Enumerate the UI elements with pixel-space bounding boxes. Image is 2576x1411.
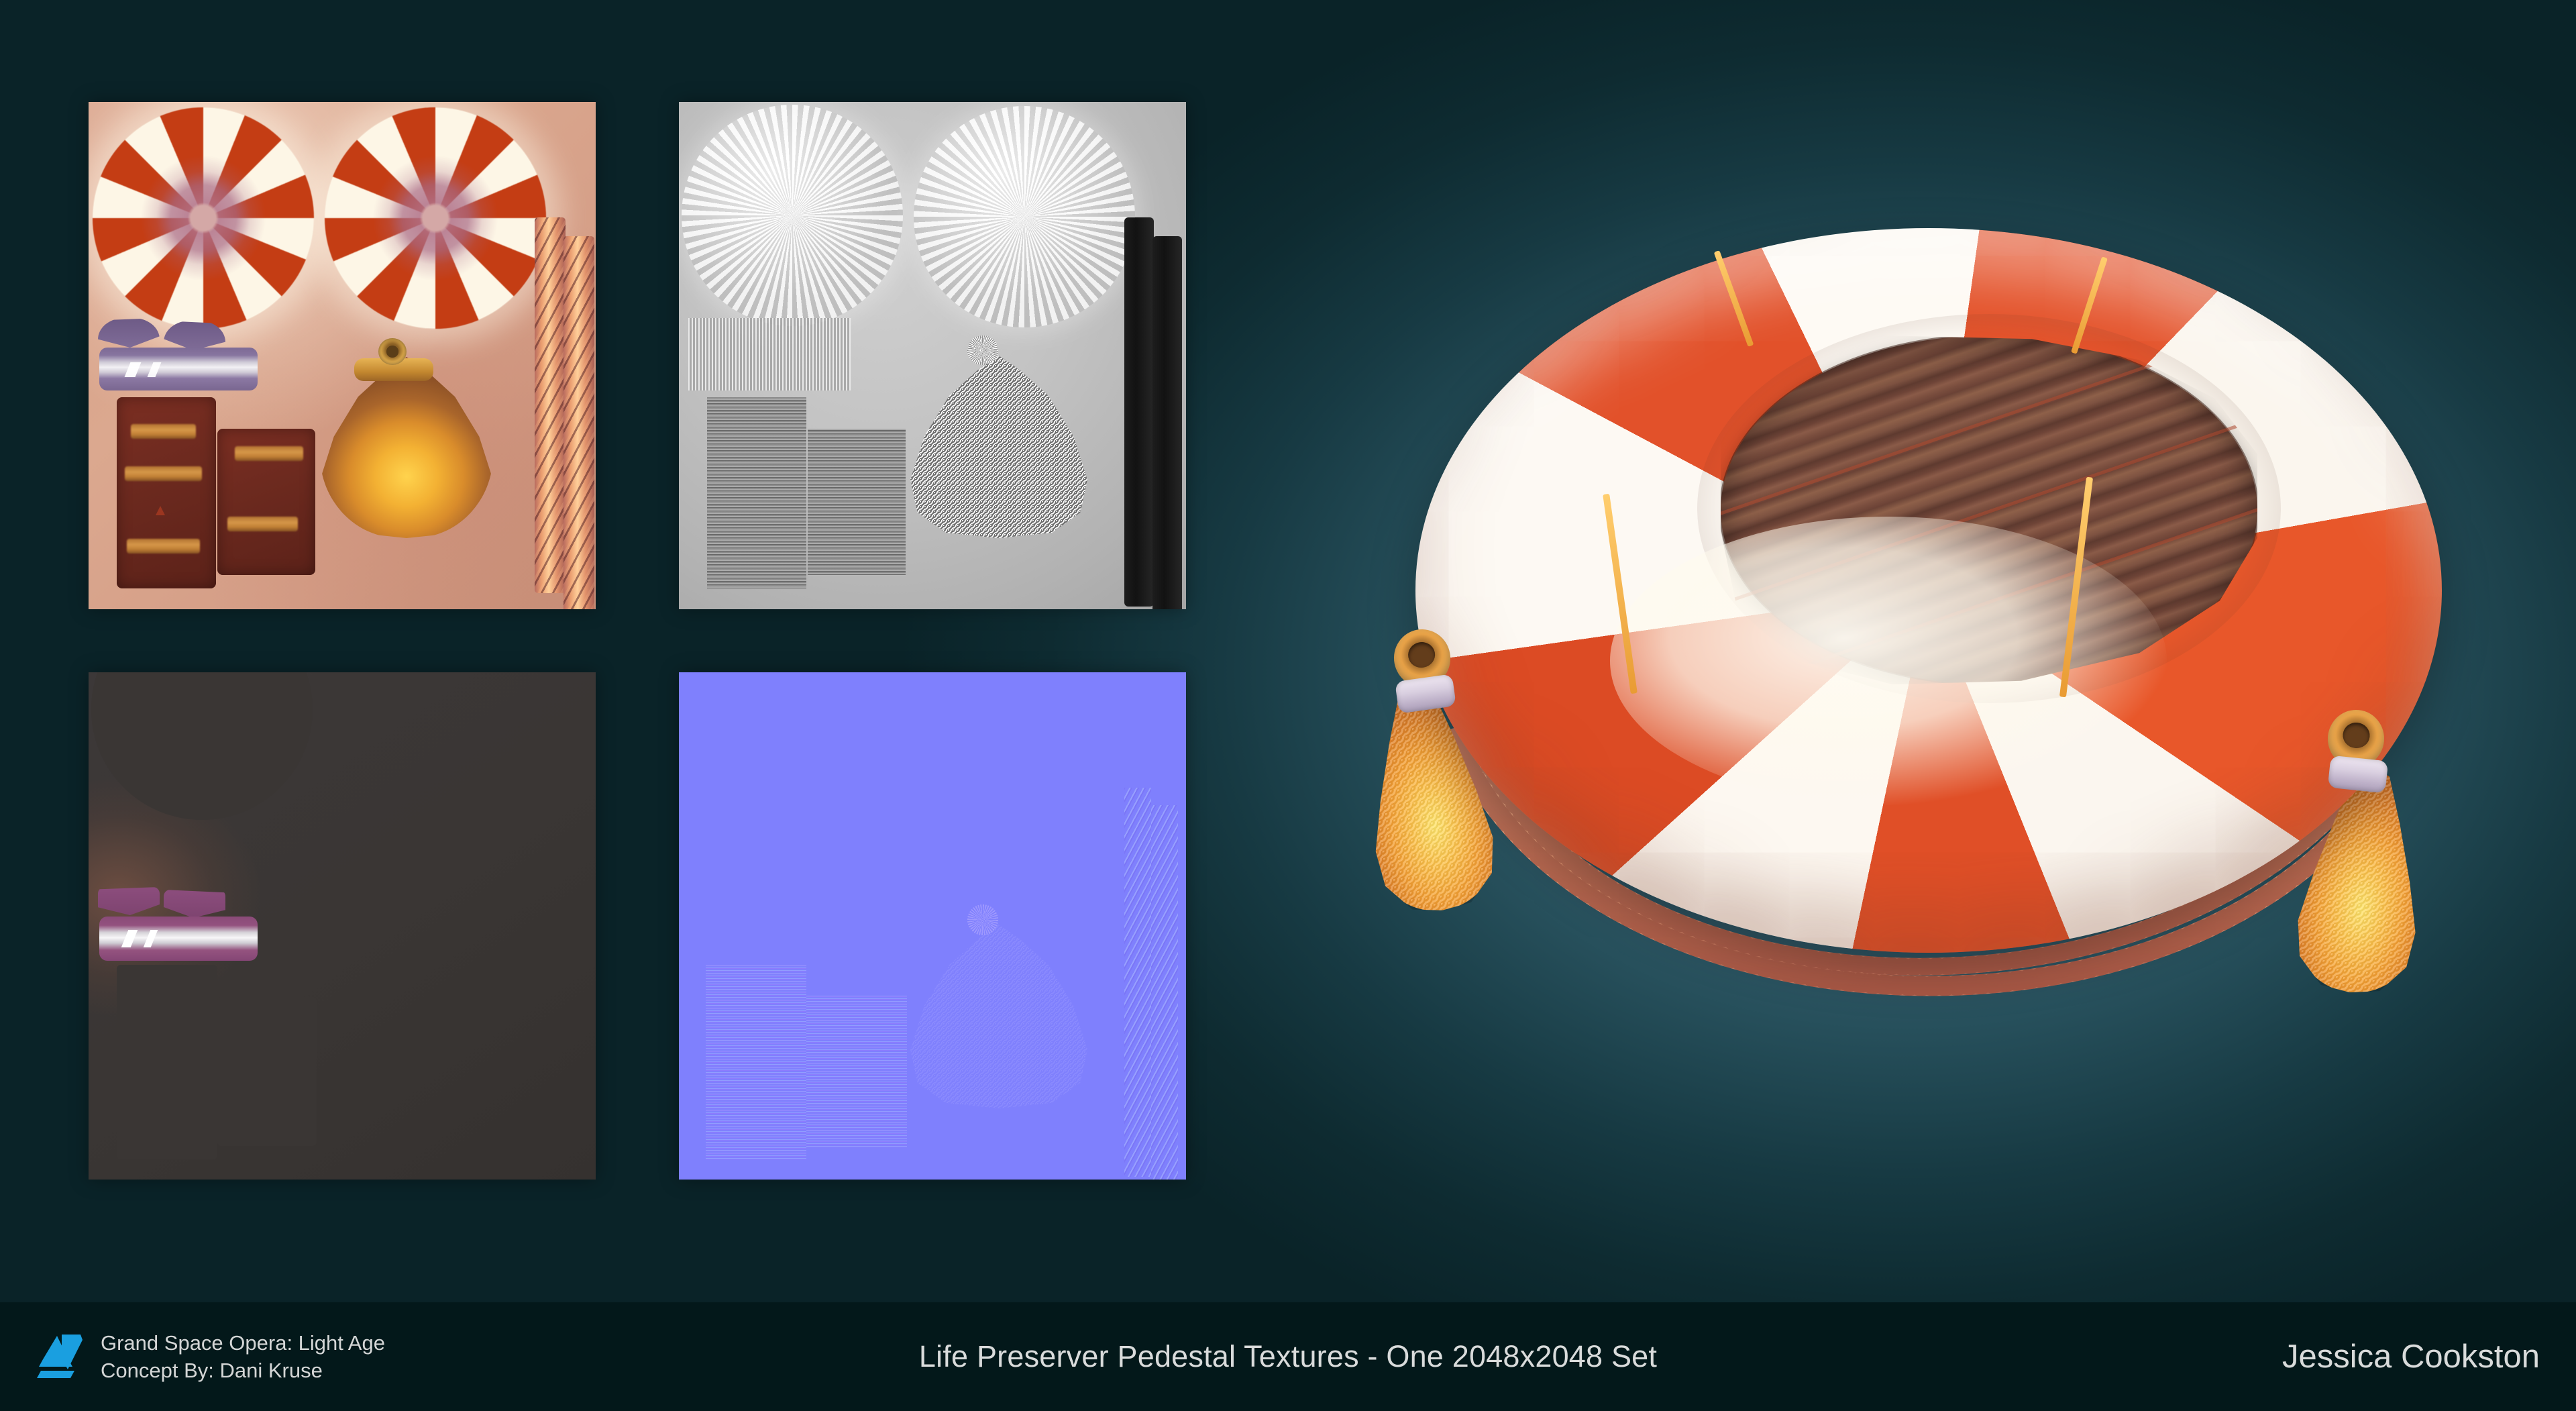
band-highlight xyxy=(121,930,138,947)
texture-map-metallic[interactable] xyxy=(89,672,596,1180)
uv-island-rope-strip xyxy=(535,217,566,593)
uv-island-metal-band xyxy=(99,917,258,961)
credit-text-block: Grand Space Opera: Light Age Concept By:… xyxy=(101,1330,385,1383)
texture-map-roughness[interactable] xyxy=(679,102,1186,609)
texture-map-albedo[interactable] xyxy=(89,102,596,609)
footer-credits: Grand Space Opera: Light Age Concept By:… xyxy=(0,1330,704,1383)
uv-island-wood-planks xyxy=(806,996,907,1147)
life-preserver-render[interactable] xyxy=(1355,208,2509,1107)
uv-island-buoy-collar xyxy=(98,318,160,348)
buoy-sack-neck xyxy=(967,904,998,935)
artist-name: Jessica Cookston xyxy=(1872,1338,2576,1375)
uv-island-buoy-collar xyxy=(98,887,160,915)
life-ring-torus xyxy=(1415,228,2442,953)
uv-island-buoy-collar xyxy=(164,890,225,918)
uv-island-rope-strip xyxy=(1124,217,1154,607)
uv-island-rope-strip xyxy=(1124,788,1151,1177)
uv-island-wood-planks xyxy=(117,965,217,1159)
artwork-title: Life Preserver Pedestal Textures - One 2… xyxy=(704,1339,1872,1374)
artstation-stamp-icon xyxy=(156,506,165,515)
artstation-logo-icon[interactable] xyxy=(36,1332,83,1381)
uv-island-buoy-sack xyxy=(910,925,1087,1108)
wood-deck-top xyxy=(1721,335,2257,684)
uv-island-buoy-sack xyxy=(910,356,1087,538)
uv-island-life-ring-top xyxy=(914,106,1135,327)
uv-island-life-ring-top xyxy=(682,105,903,326)
buoy-metal-band-right xyxy=(2328,755,2389,794)
uv-island-wood-planks xyxy=(707,397,806,588)
uv-island-life-ring-top xyxy=(325,107,546,329)
footer-bar: Grand Space Opera: Light Age Concept By:… xyxy=(0,1302,2576,1411)
uv-island-buoy-collar xyxy=(688,318,851,390)
buoy-sack-neck xyxy=(378,338,407,365)
uv-island-buoy-sack xyxy=(320,357,493,538)
uv-island-rope-strip xyxy=(563,236,594,609)
band-highlight xyxy=(147,362,161,377)
uv-island-metal-band xyxy=(99,348,258,390)
uv-island-life-ring-top xyxy=(93,107,314,329)
concept-credit: Concept By: Dani Kruse xyxy=(101,1358,385,1383)
uv-island-buoy-collar xyxy=(164,321,225,350)
band-highlight xyxy=(144,930,158,947)
uv-island-wood-planks xyxy=(217,429,315,575)
uv-island-wood-planks xyxy=(706,965,806,1159)
uv-island-wood-planks xyxy=(117,397,216,588)
texture-map-grid xyxy=(89,102,1189,1182)
screenshot-canvas: Grand Space Opera: Light Age Concept By:… xyxy=(0,0,2576,1411)
buoy-sack-neck xyxy=(967,335,998,365)
band-highlight xyxy=(125,362,142,377)
uv-island-life-ring-top xyxy=(91,672,313,820)
texture-map-normal[interactable] xyxy=(679,672,1186,1180)
uv-island-rope-strip xyxy=(1152,236,1182,609)
project-title: Grand Space Opera: Light Age xyxy=(101,1330,385,1356)
uv-island-rope-strip xyxy=(1151,805,1178,1180)
uv-island-wood-planks xyxy=(217,997,317,1146)
uv-island-wood-planks xyxy=(808,429,906,575)
